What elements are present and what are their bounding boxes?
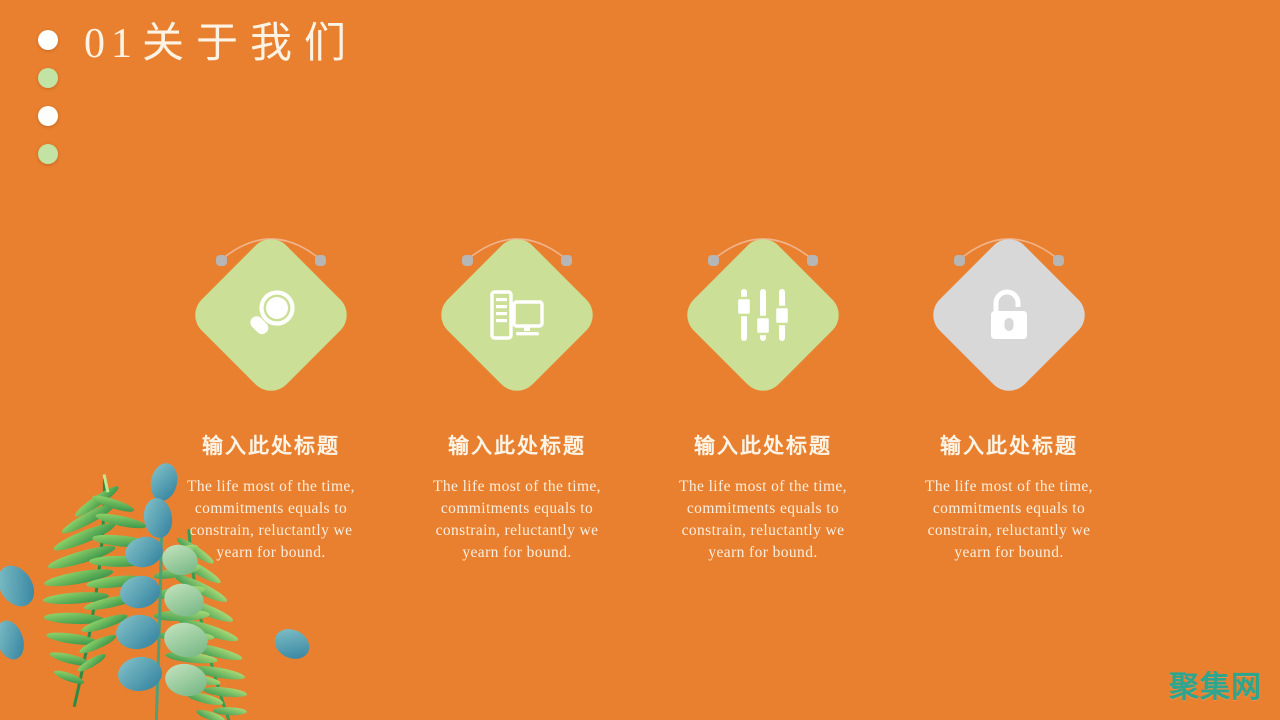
unlocked-padlock-icon [974, 280, 1044, 350]
card-title: 输入此处标题 [448, 430, 586, 460]
bullet-dot-2 [38, 68, 58, 88]
diamond-badge-3 [678, 230, 848, 400]
site-watermark: 聚集网 [1169, 662, 1262, 706]
card-title: 输入此处标题 [694, 430, 832, 460]
card-title: 输入此处标题 [940, 430, 1078, 460]
page-title-number: 01 [84, 21, 138, 67]
card-body-text: The life most of the time, commitments e… [909, 476, 1109, 564]
bullet-dot-4 [38, 144, 58, 164]
bullet-dot-3 [38, 106, 58, 126]
page-title: 01关于我们 [84, 16, 358, 72]
bullet-list [38, 30, 58, 164]
sliders-icon [728, 280, 798, 350]
diamond-badge-4 [924, 230, 1094, 400]
card-body-text: The life most of the time, commitments e… [417, 476, 617, 564]
diamond-badge-1 [186, 230, 356, 400]
page-title-text: 关于我们 [142, 21, 358, 67]
feature-card-1[interactable]: 输入此处标题 The life most of the time, commit… [148, 222, 394, 564]
card-title: 输入此处标题 [202, 430, 340, 460]
feature-card-2[interactable]: 输入此处标题 The life most of the time, commit… [394, 222, 640, 564]
card-body-text: The life most of the time, commitments e… [171, 476, 371, 564]
diamond-badge-2 [432, 230, 602, 400]
feature-card-row: 输入此处标题 The life most of the time, commit… [0, 222, 1280, 564]
card-body-text: The life most of the time, commitments e… [663, 476, 863, 564]
magnifier-icon [236, 280, 306, 350]
slide-canvas: 01关于我们 [0, 0, 1280, 720]
feature-card-3[interactable]: 输入此处标题 The life most of the time, commit… [640, 222, 886, 564]
feature-card-4[interactable]: 输入此处标题 The life most of the time, commit… [886, 222, 1132, 564]
bullet-dot-1 [38, 30, 58, 50]
desktop-computer-icon [482, 280, 552, 350]
